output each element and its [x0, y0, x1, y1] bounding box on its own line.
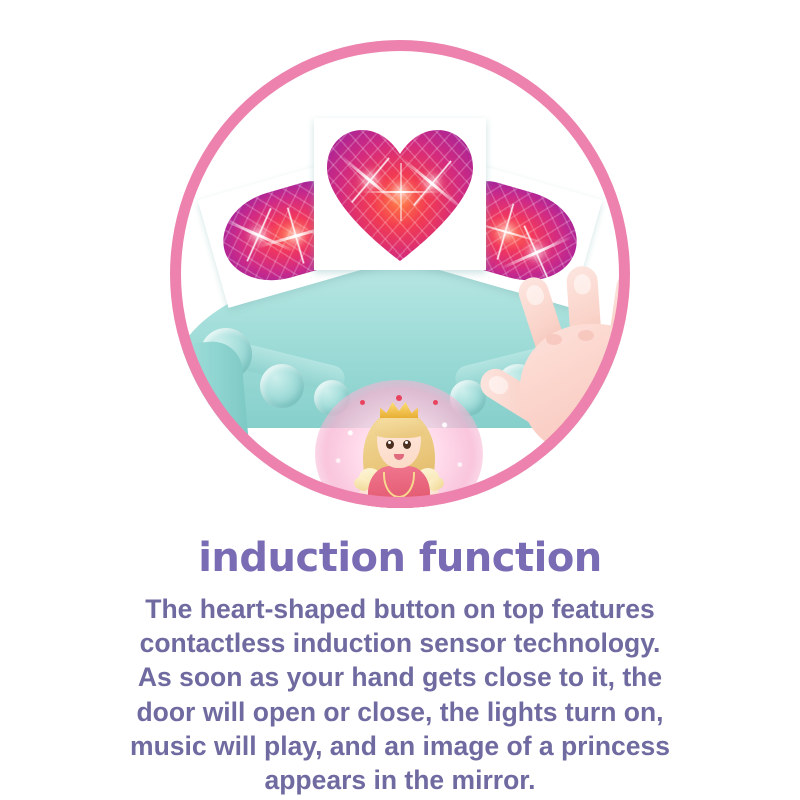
- swirl-ornament: [260, 364, 304, 408]
- product-photo-circle: [170, 40, 630, 508]
- sparkle-icon: [400, 191, 402, 193]
- princess-eye-left: [386, 440, 394, 449]
- child-hand: [496, 272, 630, 508]
- caption-block: induction function The heart-shaped butt…: [0, 538, 800, 797]
- princess-mouth: [394, 454, 404, 460]
- crown-gem: [360, 400, 365, 405]
- knuckle: [546, 334, 562, 345]
- heart-gem-button[interactable]: [314, 118, 486, 270]
- knuckle: [610, 334, 625, 345]
- sparkle-icon: [431, 182, 433, 184]
- sparkle-icon: [535, 251, 537, 253]
- sparkle-icon: [257, 234, 259, 236]
- crown-gem: [433, 400, 438, 405]
- princess-hologram: [315, 380, 483, 508]
- princess-bodice-trim: [383, 472, 415, 498]
- product-feature-card: induction function The heart-shaped butt…: [0, 0, 800, 800]
- princess-figure: [353, 394, 445, 508]
- sparkle-icon: [369, 179, 371, 181]
- princess-eye-right: [403, 440, 411, 449]
- photo-clip-region: [170, 40, 630, 508]
- feature-title: induction function: [0, 538, 800, 578]
- sparkle-icon: [294, 235, 296, 237]
- feature-description: The heart-shaped button on top features …: [90, 592, 710, 797]
- fingernail: [573, 274, 591, 295]
- sparkle-icon: [504, 231, 506, 233]
- fingernail: [621, 280, 630, 302]
- princess-dress: [368, 466, 430, 508]
- fingernail: [485, 373, 511, 398]
- crown-gem: [396, 395, 402, 401]
- knuckle: [578, 330, 594, 341]
- crown-icon: [380, 400, 418, 418]
- fingernail: [523, 283, 545, 307]
